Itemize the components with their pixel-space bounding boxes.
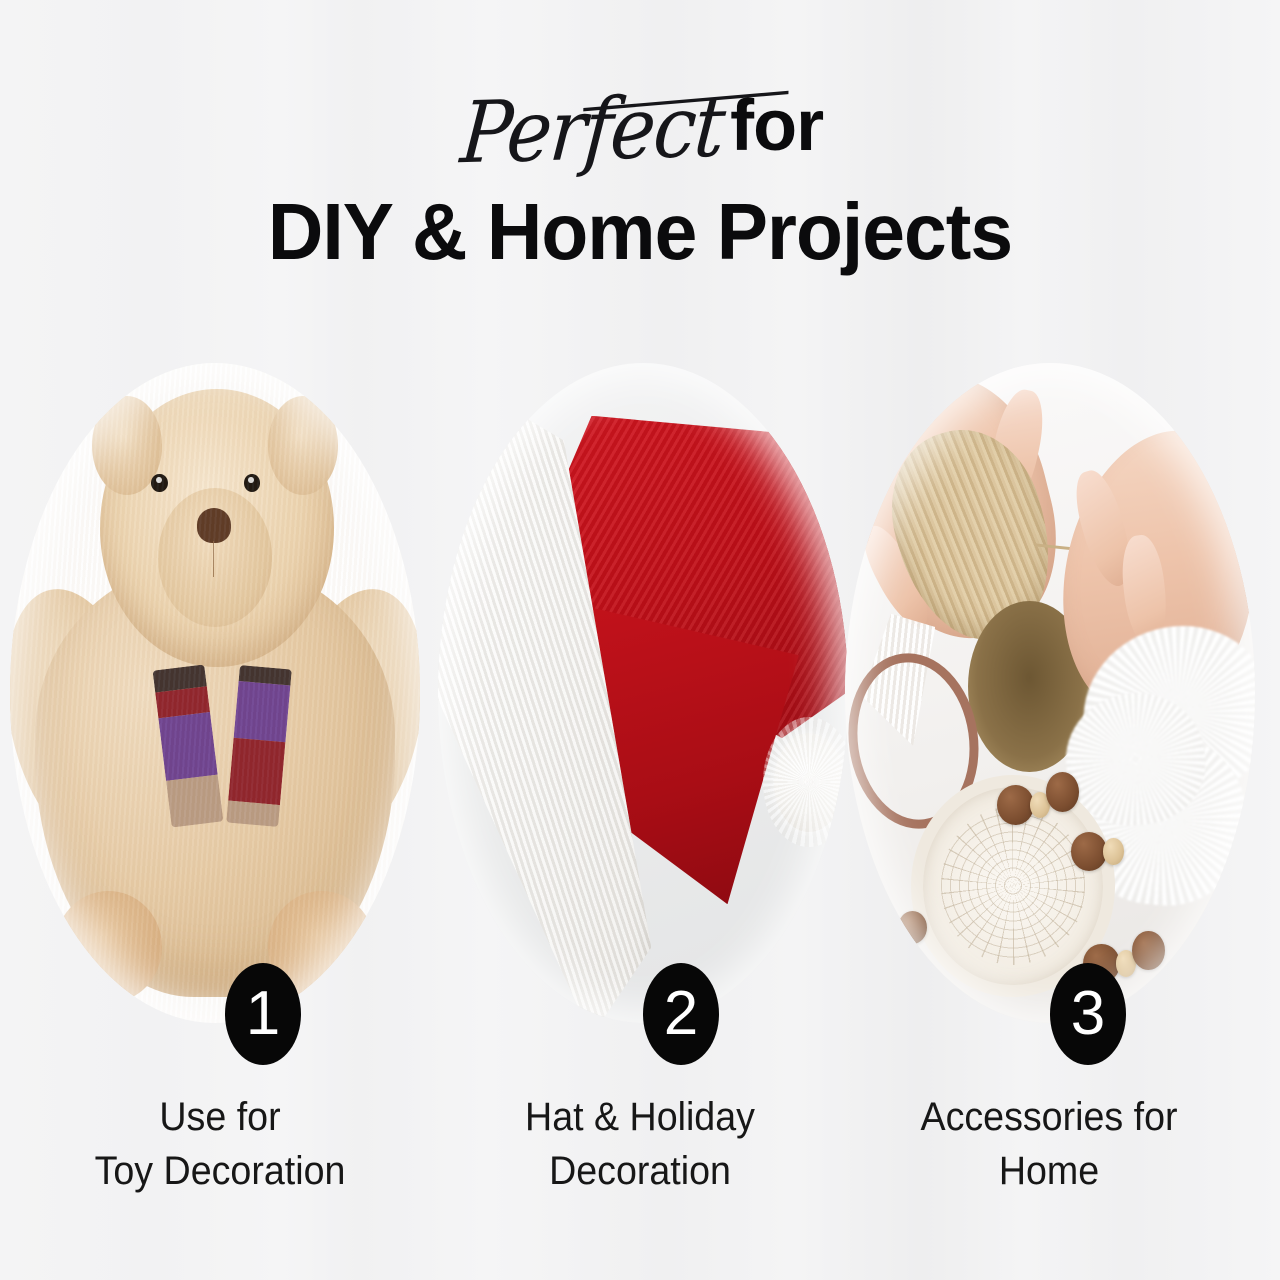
wooden-bead bbox=[997, 785, 1034, 825]
craft-twine-image-content bbox=[845, 363, 1255, 1023]
santa-hat-image-content bbox=[438, 363, 848, 1023]
wooden-bead bbox=[1046, 772, 1079, 812]
bear-scarf bbox=[162, 667, 285, 825]
poster-canvas: Perfectfor DIY & Home Projects bbox=[0, 0, 1280, 1280]
caption-line-1: Use for bbox=[23, 1091, 418, 1145]
dreamcatcher-web bbox=[941, 806, 1085, 964]
wooden-bead bbox=[1103, 838, 1124, 864]
card-3: 3 Accessories for Home bbox=[845, 363, 1265, 1223]
santa-hat-photo bbox=[438, 363, 848, 1023]
heading-line-2: DIY & Home Projects bbox=[26, 186, 1255, 278]
scarf-segment bbox=[234, 680, 290, 741]
heading-bold-word: for bbox=[730, 74, 823, 178]
card-1: 1 Use for Toy Decoration bbox=[10, 363, 430, 1223]
wooden-bead bbox=[1132, 931, 1165, 971]
craft-twine-photo bbox=[845, 363, 1255, 1023]
teddy-bear-photo bbox=[10, 363, 420, 1023]
step-badge-3: 3 bbox=[1050, 963, 1126, 1065]
heading-script-word: Perfect bbox=[457, 68, 728, 191]
bear-foot-left bbox=[55, 891, 162, 1003]
caption-line-1: Hat & Holiday bbox=[443, 1091, 838, 1145]
heading-block: Perfectfor DIY & Home Projects bbox=[0, 78, 1280, 278]
card-3-caption: Accessories for Home bbox=[852, 1091, 1247, 1198]
heading-line-1: Perfectfor bbox=[0, 78, 1280, 182]
step-badge-1: 1 bbox=[225, 963, 301, 1065]
step-badge-number: 1 bbox=[246, 983, 280, 1045]
card-2-caption: Hat & Holiday Decoration bbox=[443, 1091, 838, 1198]
scarf-segment bbox=[226, 800, 279, 827]
bear-ear-right bbox=[268, 396, 338, 495]
caption-line-2: Home bbox=[852, 1145, 1247, 1199]
hat-pompom bbox=[774, 733, 844, 832]
step-badge-2: 2 bbox=[643, 963, 719, 1065]
bear-nose bbox=[197, 508, 232, 542]
scarf-segment bbox=[158, 711, 217, 780]
wooden-bead bbox=[898, 911, 927, 944]
bear-mouth bbox=[213, 541, 215, 577]
teddy-bear-image-content bbox=[10, 363, 420, 1023]
scarf-segment bbox=[228, 737, 285, 805]
caption-line-1: Accessories for bbox=[852, 1091, 1247, 1145]
bear-eye-right bbox=[244, 474, 260, 492]
scarf-strip-left bbox=[152, 664, 223, 828]
cards-row: 1 Use for Toy Decoration 2 bbox=[0, 363, 1280, 1223]
caption-line-2: Decoration bbox=[443, 1145, 838, 1199]
step-badge-number: 2 bbox=[664, 983, 698, 1045]
bear-eye-left bbox=[151, 474, 167, 492]
card-2: 2 Hat & Holiday Decoration bbox=[430, 363, 850, 1223]
caption-line-2: Toy Decoration bbox=[23, 1145, 418, 1199]
scarf-segment bbox=[166, 774, 223, 827]
card-1-caption: Use for Toy Decoration bbox=[23, 1091, 418, 1198]
step-badge-number: 3 bbox=[1071, 983, 1105, 1045]
scarf-strip-right bbox=[226, 665, 291, 827]
